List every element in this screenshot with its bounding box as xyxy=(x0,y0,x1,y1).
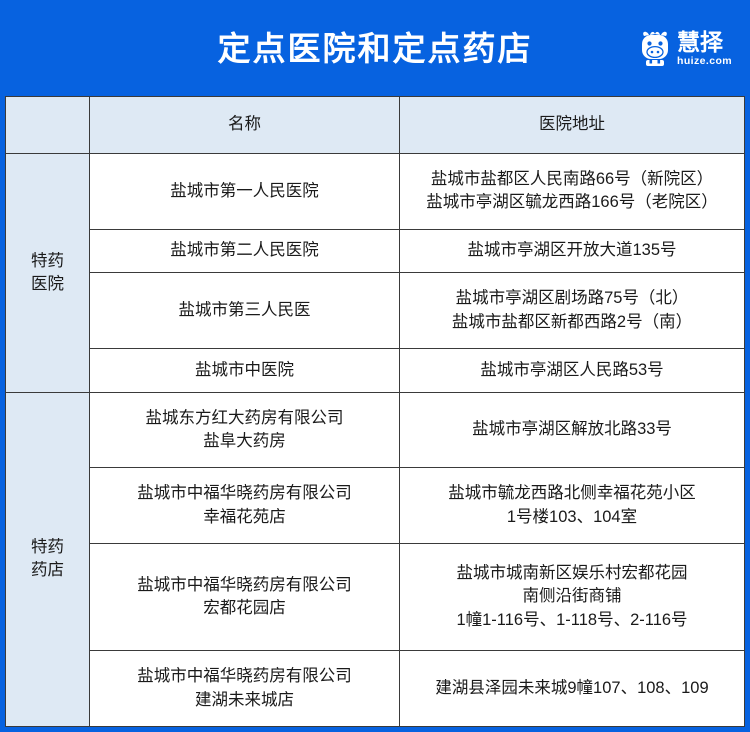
facility-address-line: 盐城市亭湖区解放北路33号 xyxy=(406,418,738,441)
facility-name-cell: 盐城市第一人民医院 xyxy=(90,154,400,230)
section-label-line: 特药 xyxy=(12,250,83,273)
facility-name-line: 幸福花苑店 xyxy=(96,506,393,529)
facility-name-line: 盐城市中福华晓药房有限公司 xyxy=(96,482,393,505)
facility-address-line: 盐城市盐都区人民南路66号（新院区） xyxy=(406,168,738,191)
brand-text: 慧择 huize.com xyxy=(677,30,732,67)
facility-address-line: 盐城市亭湖区开放大道135号 xyxy=(406,239,738,262)
header-name-cell: 名称 xyxy=(90,97,400,154)
table-row: 特药 医院 盐城市第一人民医院 盐城市盐都区人民南路66号（新院区） 盐城市亭湖… xyxy=(6,154,745,230)
facility-address-cell: 盐城市城南新区娱乐村宏都花园 南侧沿街商铺 1幢1-116号、1-118号、2-… xyxy=(400,544,745,651)
facility-address-cell: 盐城市毓龙西路北侧幸福花苑小区 1号楼103、104室 xyxy=(400,468,745,544)
header-address-cell: 医院地址 xyxy=(400,97,745,154)
table-row: 盐城市中福华晓药房有限公司 幸福花苑店 盐城市毓龙西路北侧幸福花苑小区 1号楼1… xyxy=(6,468,745,544)
table-row: 盐城市中医院 盐城市亭湖区人民路53号 xyxy=(6,349,745,393)
table-row: 盐城市中福华晓药房有限公司 建湖未来城店 建湖县泽园未来城9幢107、108、1… xyxy=(6,651,745,727)
facility-address-line: 建湖县泽园未来城9幢107、108、109 xyxy=(406,677,738,700)
facility-name-line: 盐城市中医院 xyxy=(96,359,393,382)
section-label-pharmacies: 特药 药店 xyxy=(6,392,90,726)
facility-name-cell: 盐城市中福华晓药房有限公司 建湖未来城店 xyxy=(90,651,400,727)
facility-address-line: 1幢1-116号、1-118号、2-116号 xyxy=(406,609,738,632)
facility-name-cell: 盐城市中医院 xyxy=(90,349,400,393)
facility-name-cell: 盐城市中福华晓药房有限公司 幸福花苑店 xyxy=(90,468,400,544)
table-row: 盐城市中福华晓药房有限公司 宏都花园店 盐城市城南新区娱乐村宏都花园 南侧沿街商… xyxy=(6,544,745,651)
facility-address-cell: 盐城市盐都区人民南路66号（新院区） 盐城市亭湖区毓龙西路166号（老院区） xyxy=(400,154,745,230)
facility-address-line: 1号楼103、104室 xyxy=(406,506,738,529)
table-row: 盐城市第二人民医院 盐城市亭湖区开放大道135号 xyxy=(6,229,745,273)
designated-facility-table: 名称 医院地址 特药 医院 盐城市第一人民医院 盐城市盐都区人民南路66号（新院… xyxy=(5,96,745,727)
section-label-line: 特药 xyxy=(12,536,83,559)
page-header-banner: 定点医院和定点药店 xyxy=(0,0,750,96)
section-label-line: 药店 xyxy=(12,559,83,582)
facility-address-cell: 盐城市亭湖区剧场路75号（北） 盐城市盐都区新都西路2号（南） xyxy=(400,273,745,349)
facility-address-line: 盐城市亭湖区毓龙西路166号（老院区） xyxy=(406,191,738,214)
facility-address-cell: 建湖县泽园未来城9幢107、108、109 xyxy=(400,651,745,727)
facility-name-cell: 盐城市中福华晓药房有限公司 宏都花园店 xyxy=(90,544,400,651)
facility-name-line: 盐阜大药房 xyxy=(96,430,393,453)
facility-name-line: 盐城东方红大药房有限公司 xyxy=(96,407,393,430)
brand-logo: 慧择 huize.com xyxy=(638,29,732,67)
facility-address-cell: 盐城市亭湖区解放北路33号 xyxy=(400,392,745,468)
facility-address-line: 盐城市城南新区娱乐村宏都花园 xyxy=(406,562,738,585)
facility-address-line: 南侧沿街商铺 xyxy=(406,585,738,608)
facility-name-line: 盐城市第一人民医院 xyxy=(96,180,393,203)
table-row: 特药 药店 盐城东方红大药房有限公司 盐阜大药房 盐城市亭湖区解放北路33号 xyxy=(6,392,745,468)
table-row: 盐城市第三人民医 盐城市亭湖区剧场路75号（北） 盐城市盐都区新都西路2号（南） xyxy=(6,273,745,349)
facility-address-line: 盐城市毓龙西路北侧幸福花苑小区 xyxy=(406,482,738,505)
facility-name-cell: 盐城市第二人民医院 xyxy=(90,229,400,273)
facility-address-line: 盐城市亭湖区剧场路75号（北） xyxy=(406,287,738,310)
facility-name-line: 盐城市第二人民医院 xyxy=(96,239,393,262)
section-label-line: 医院 xyxy=(12,273,83,296)
facility-name-line: 盐城市第三人民医 xyxy=(96,299,393,322)
brand-domain: huize.com xyxy=(677,56,732,67)
brand-name-cn: 慧择 xyxy=(677,30,723,54)
facility-address-cell: 盐城市亭湖区开放大道135号 xyxy=(400,229,745,273)
header-corner-cell xyxy=(6,97,90,154)
facility-name-line: 盐城市中福华晓药房有限公司 xyxy=(96,665,393,688)
facility-name-line: 建湖未来城店 xyxy=(96,689,393,712)
table-header-row: 名称 医院地址 xyxy=(6,97,745,154)
facility-table-container: 慧择保险网 huize.com 名称 医院地址 特药 医院 盐城市 xyxy=(0,96,750,732)
facility-name-line: 宏都花园店 xyxy=(96,597,393,620)
section-label-hospitals: 特药 医院 xyxy=(6,154,90,393)
facility-name-cell: 盐城东方红大药房有限公司 盐阜大药房 xyxy=(90,392,400,468)
facility-address-line: 盐城市盐都区新都西路2号（南） xyxy=(406,311,738,334)
page-title: 定点医院和定点药店 xyxy=(218,32,533,65)
facility-name-cell: 盐城市第三人民医 xyxy=(90,273,400,349)
ox-mascot-icon xyxy=(638,29,672,67)
facility-address-line: 盐城市亭湖区人民路53号 xyxy=(406,359,738,382)
facility-name-line: 盐城市中福华晓药房有限公司 xyxy=(96,574,393,597)
facility-address-cell: 盐城市亭湖区人民路53号 xyxy=(400,349,745,393)
